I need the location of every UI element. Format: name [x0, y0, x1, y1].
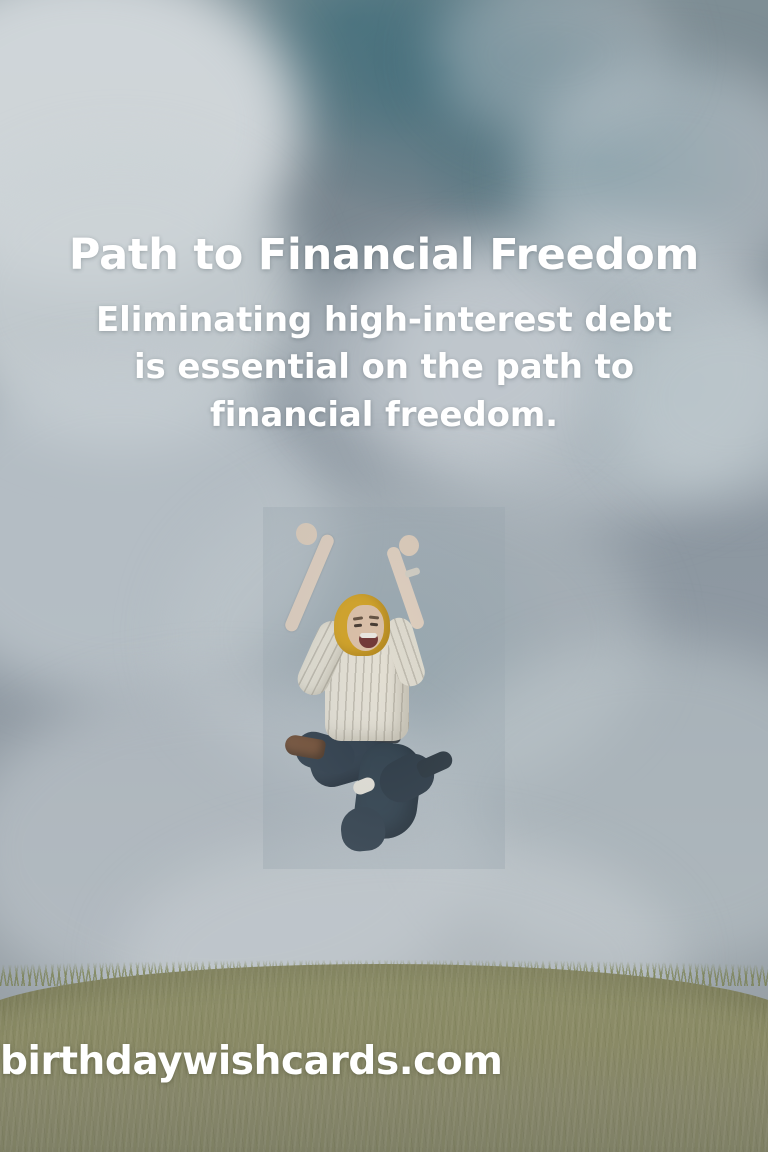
subtitle-line-1: Eliminating high-interest debt — [64, 297, 704, 344]
left-arm — [283, 533, 336, 634]
right-arm — [385, 545, 425, 631]
subtitle-line-2: is essential on the path to — [64, 344, 704, 391]
teeth — [360, 633, 377, 638]
card-title: Path to Financial Freedom — [0, 232, 768, 278]
jumping-woman-photo-subject — [281, 521, 487, 851]
left-fist — [296, 523, 317, 545]
subtitle-line-3: financial freedom. — [64, 392, 704, 439]
quote-card: Path to Financial Freedom Eliminating hi… — [0, 0, 768, 1152]
card-subtitle: Eliminating high-interest debt is essent… — [64, 297, 704, 439]
right-eye — [370, 623, 378, 627]
right-fist — [399, 535, 419, 556]
right-shoe — [415, 748, 455, 779]
site-watermark: birthdaywishcards.com — [0, 1039, 768, 1084]
wrist-cuff — [404, 567, 420, 578]
